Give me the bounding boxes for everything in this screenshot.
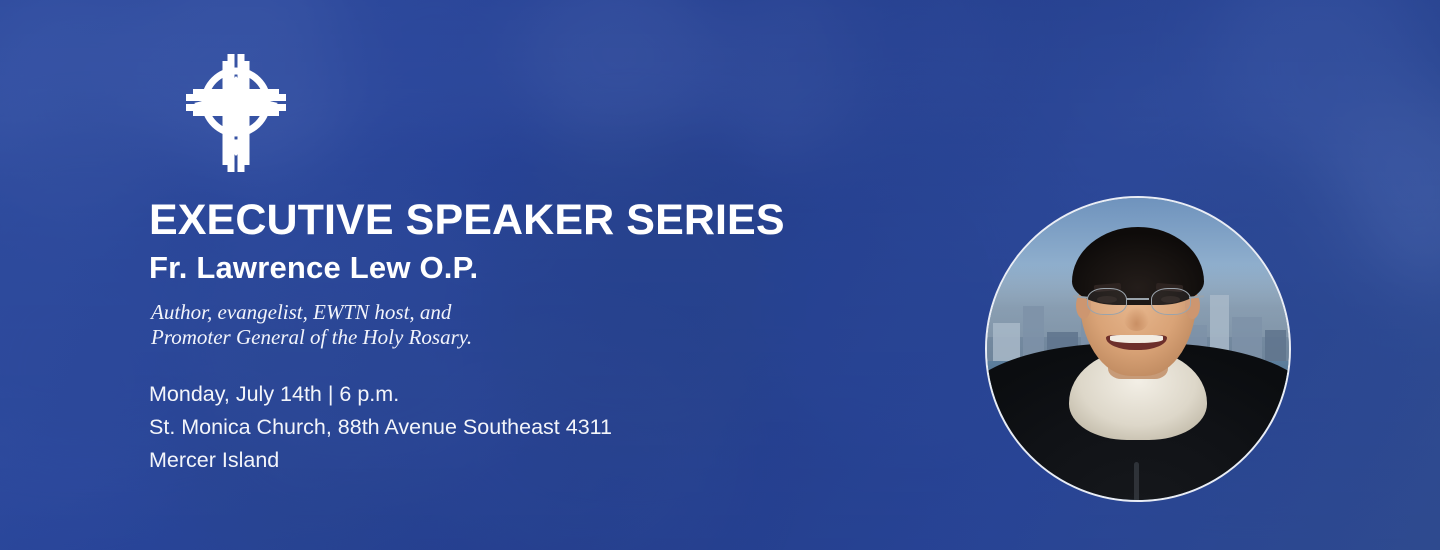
portrait-scene bbox=[987, 198, 1289, 500]
event-city: Mercer Island bbox=[149, 444, 889, 477]
portrait-glasses-lens-right bbox=[1151, 288, 1191, 315]
speaker-portrait: Fr. Lawrence Lew O.P. portrait bbox=[985, 196, 1291, 502]
event-details: Monday, July 14th | 6 p.m. St. Monica Ch… bbox=[149, 378, 889, 477]
portrait-teeth bbox=[1110, 335, 1163, 343]
speaker-name: Fr. Lawrence Lew O.P. bbox=[149, 248, 889, 288]
portrait-nose bbox=[1124, 307, 1148, 331]
portrait-habit-fold bbox=[1134, 462, 1139, 502]
portrait-glasses-lens-left bbox=[1087, 288, 1127, 315]
portrait-glasses-bridge bbox=[1126, 298, 1149, 300]
banner-text-block: EXECUTIVE SPEAKER SERIES Fr. Lawrence Le… bbox=[149, 196, 889, 477]
credential-line: Author, evangelist, EWTN host, and bbox=[151, 300, 889, 325]
speaker-credentials: Author, evangelist, EWTN host, and Promo… bbox=[151, 300, 889, 350]
page-title: EXECUTIVE SPEAKER SERIES bbox=[149, 196, 889, 244]
credential-line: Promoter General of the Holy Rosary. bbox=[151, 325, 889, 350]
event-datetime: Monday, July 14th | 6 p.m. bbox=[149, 378, 889, 411]
celtic-cross-logo: Celtic cross with dove emblem bbox=[184, 52, 288, 174]
event-venue: St. Monica Church, 88th Avenue Southeast… bbox=[149, 411, 889, 444]
event-banner: Celtic cross with dove emblem bbox=[0, 0, 1440, 550]
